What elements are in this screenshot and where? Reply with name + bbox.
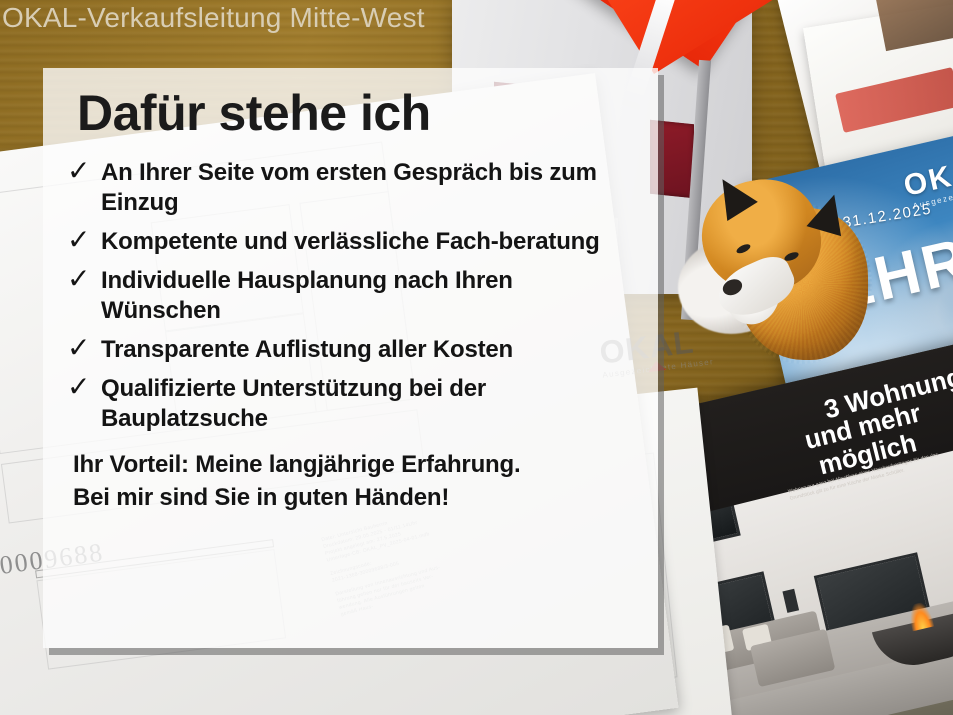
- brochure-photo-wall-lamp: [782, 589, 799, 613]
- closing-statement: Ihr Vorteil: Meine langjährige Erfahrung…: [73, 448, 632, 514]
- list-item: ✓ Kompetente und verlässliche Fach-berat…: [67, 227, 632, 257]
- benefit-text: Kompetente und verlässliche Fach-beratun…: [101, 227, 600, 257]
- check-icon: ✓: [67, 333, 101, 363]
- list-item: ✓ An Ihrer Seite vom ersten Gespräch bis…: [67, 158, 632, 218]
- screenshot-stage: OKAL Ausgezeichnete Häuser 15.03. – 31.1…: [0, 0, 953, 715]
- closing-line-2: Bei mir sind Sie in guten Händen!: [73, 481, 632, 514]
- list-item: ✓ Qualifizierte Unterstützung bei der Ba…: [67, 374, 632, 434]
- benefits-list: ✓ An Ihrer Seite vom ersten Gespräch bis…: [67, 158, 632, 434]
- benefit-text: An Ihrer Seite vom ersten Gespräch bis z…: [101, 158, 632, 218]
- benefit-text: Individuelle Hausplanung nach Ihren Wüns…: [101, 266, 632, 326]
- fox-ear-left: [707, 170, 758, 221]
- page-title: Dafür stehe ich: [77, 82, 632, 144]
- benefit-text: Transparente Auflistung aller Kosten: [101, 335, 513, 365]
- list-item: ✓ Transparente Auflistung aller Kosten: [67, 335, 632, 365]
- check-icon: ✓: [67, 225, 101, 255]
- check-icon: ✓: [67, 372, 101, 402]
- content-panel: Dafür stehe ich ✓ An Ihrer Seite vom ers…: [43, 68, 658, 648]
- page-header-title: OKAL-Verkaufsleitung Mitte-West: [2, 2, 425, 34]
- list-item: ✓ Individuelle Hausplanung nach Ihren Wü…: [67, 266, 632, 326]
- fox-eye-right: [783, 250, 800, 262]
- benefit-text: Qualifizierte Unterstützung bei der Baup…: [101, 374, 632, 434]
- check-icon: ✓: [67, 156, 101, 186]
- check-icon: ✓: [67, 264, 101, 294]
- plush-fox-figurine: [684, 152, 864, 357]
- closing-line-1: Ihr Vorteil: Meine langjährige Erfahrung…: [73, 448, 632, 481]
- fox-eye-left: [735, 242, 752, 255]
